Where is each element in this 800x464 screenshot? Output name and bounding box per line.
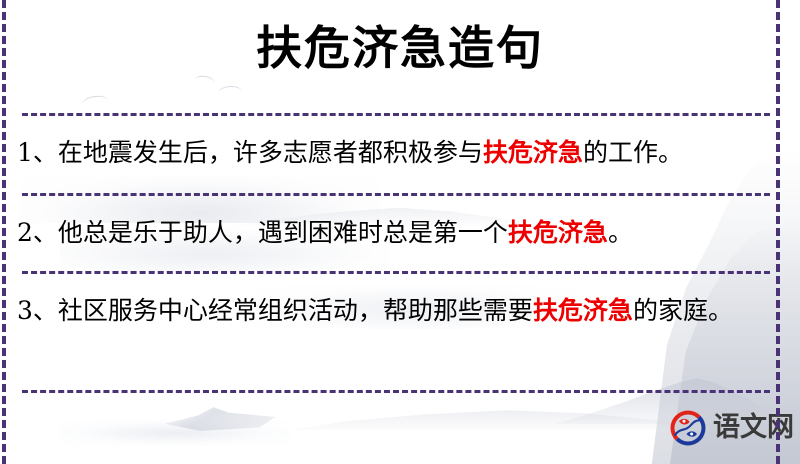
sentence-text-after: 的家庭。 [633, 296, 733, 325]
sentence-number: 2、 [17, 218, 58, 247]
site-logo-text: 语文网 [713, 412, 794, 444]
frame-border-left [2, 0, 6, 464]
sentence-number: 1、 [17, 138, 58, 167]
sentence-text-after: 的工作。 [583, 138, 683, 167]
sentence-number: 3、 [17, 296, 58, 325]
content-area: 扶危济急造句 1、在地震发生后，许多志愿者都积极参与扶危济急的工作。 2、他总是… [0, 0, 800, 464]
sentence-text-before: 他总是乐于助人，遇到困难时总是第一个 [58, 218, 508, 247]
keyword-highlight: 扶危济急 [508, 218, 608, 247]
sentence-item-1: 1、在地震发生后，许多志愿者都积极参与扶危济急的工作。 [17, 130, 773, 175]
page-title: 扶危济急造句 [0, 18, 800, 78]
sentence-item-2: 2、他总是乐于助人，遇到困难时总是第一个扶危济急。 [17, 210, 773, 255]
divider-line [22, 193, 770, 196]
divider-line [22, 271, 770, 274]
yinyang-fish-circle-icon [668, 408, 708, 448]
sentence-text-before: 社区服务中心经常组织活动，帮助那些需要 [58, 296, 533, 325]
keyword-highlight: 扶危济急 [533, 296, 633, 325]
divider-line [22, 113, 770, 116]
page-root: 扶危济急造句 1、在地震发生后，许多志愿者都积极参与扶危济急的工作。 2、他总是… [0, 0, 800, 464]
frame-border-right [776, 0, 780, 464]
sentence-text-after: 。 [608, 218, 633, 247]
sentence-item-3: 3、社区服务中心经常组织活动，帮助那些需要扶危济急的家庭。 [17, 288, 773, 333]
divider-line [22, 390, 770, 393]
sentence-text-before: 在地震发生后，许多志愿者都积极参与 [58, 138, 483, 167]
keyword-highlight: 扶危济急 [483, 138, 583, 167]
